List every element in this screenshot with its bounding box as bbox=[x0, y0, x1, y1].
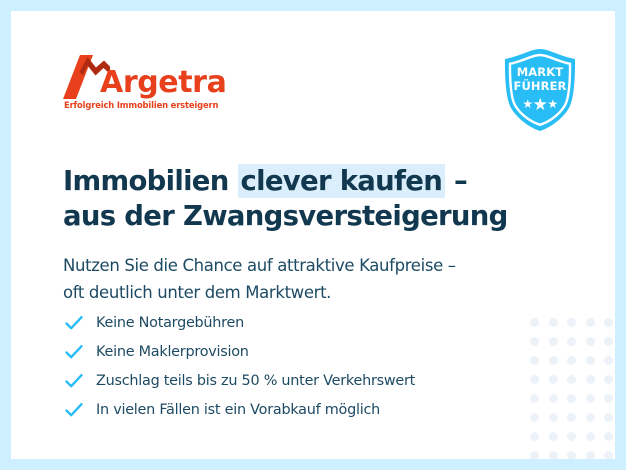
check-icon bbox=[64, 313, 84, 333]
check-icon bbox=[64, 371, 84, 391]
decoration-dot bbox=[604, 337, 613, 346]
list-item: Keine Notargebühren bbox=[64, 308, 534, 337]
decoration-dot bbox=[549, 356, 558, 365]
star-icon: ★ bbox=[547, 97, 557, 111]
decoration-dot bbox=[549, 451, 558, 459]
banner-card: Argetra Erfolgreich Immobilien ersteiger… bbox=[11, 11, 615, 459]
decoration-dot bbox=[549, 337, 558, 346]
decoration-dot bbox=[530, 432, 539, 441]
star-icon: ★ bbox=[533, 95, 548, 114]
decoration-dot bbox=[586, 375, 595, 384]
subheadline: Nutzen Sie die Chance auf attraktive Kau… bbox=[63, 252, 583, 306]
decoration-dot bbox=[604, 432, 613, 441]
decoration-dot bbox=[586, 337, 595, 346]
list-item-label: Keine Maklerprovision bbox=[96, 344, 249, 360]
headline-prefix: Immobilien bbox=[63, 165, 238, 197]
decoration-dot bbox=[586, 413, 595, 422]
decoration-dot bbox=[549, 375, 558, 384]
dot-pattern-decoration bbox=[530, 318, 615, 459]
list-item-label: Keine Notargebühren bbox=[96, 315, 244, 331]
star-icon: ★ bbox=[522, 97, 532, 111]
decoration-dot bbox=[604, 318, 613, 327]
decoration-dot bbox=[567, 356, 576, 365]
logo-tagline: Erfolgreich Immobilien ersteigern bbox=[64, 100, 218, 110]
decoration-dot bbox=[586, 432, 595, 441]
argetra-logo[interactable]: Argetra Erfolgreich Immobilien ersteiger… bbox=[63, 53, 213, 115]
decoration-dot bbox=[567, 394, 576, 403]
decoration-dot bbox=[567, 318, 576, 327]
check-icon bbox=[64, 400, 84, 420]
decoration-dot bbox=[549, 394, 558, 403]
decoration-dot bbox=[567, 337, 576, 346]
benefits-list: Keine Notargebühren Keine Maklerprovisio… bbox=[64, 308, 534, 424]
list-item: Zuschlag teils bis zu 50 % unter Verkehr… bbox=[64, 366, 534, 395]
decoration-dot bbox=[586, 394, 595, 403]
decoration-dot bbox=[549, 318, 558, 327]
subheadline-line-1: Nutzen Sie die Chance auf attraktive Kau… bbox=[63, 256, 456, 275]
decoration-dot bbox=[567, 413, 576, 422]
decoration-dot bbox=[604, 451, 613, 459]
list-item: Keine Maklerprovision bbox=[64, 337, 534, 366]
list-item-label: In vielen Fällen ist ein Vorabkauf mögli… bbox=[96, 402, 380, 418]
decoration-dot bbox=[604, 394, 613, 403]
badge-line-1: MARKT bbox=[501, 66, 579, 80]
headline-suffix: – bbox=[445, 165, 467, 197]
page-title: Immobilien clever kaufen – aus der Zwang… bbox=[63, 164, 563, 234]
headline-highlight: clever kaufen bbox=[238, 164, 446, 198]
decoration-dot bbox=[567, 432, 576, 441]
decoration-dot bbox=[530, 451, 539, 459]
decoration-dot bbox=[567, 375, 576, 384]
decoration-dot bbox=[549, 413, 558, 422]
decoration-dot bbox=[604, 413, 613, 422]
decoration-dot bbox=[586, 451, 595, 459]
decoration-dot bbox=[604, 356, 613, 365]
decoration-dot bbox=[549, 432, 558, 441]
list-item: In vielen Fällen ist ein Vorabkauf mögli… bbox=[64, 395, 534, 424]
decoration-dot bbox=[604, 375, 613, 384]
list-item-label: Zuschlag teils bis zu 50 % unter Verkehr… bbox=[96, 373, 415, 389]
market-leader-badge: MARKT FÜHRER ★★★ bbox=[501, 48, 579, 132]
subheadline-line-2: oft deutlich unter dem Marktwert. bbox=[63, 279, 583, 306]
headline-line-2: aus der Zwangsversteigerung bbox=[63, 199, 563, 234]
logo-wordmark: Argetra bbox=[100, 68, 226, 98]
decoration-dot bbox=[567, 451, 576, 459]
badge-text: MARKT FÜHRER bbox=[501, 66, 579, 93]
badge-stars: ★★★ bbox=[501, 96, 579, 113]
promo-banner: Argetra Erfolgreich Immobilien ersteiger… bbox=[0, 0, 626, 470]
decoration-dot bbox=[586, 356, 595, 365]
check-icon bbox=[64, 342, 84, 362]
badge-line-2: FÜHRER bbox=[501, 80, 579, 94]
decoration-dot bbox=[586, 318, 595, 327]
